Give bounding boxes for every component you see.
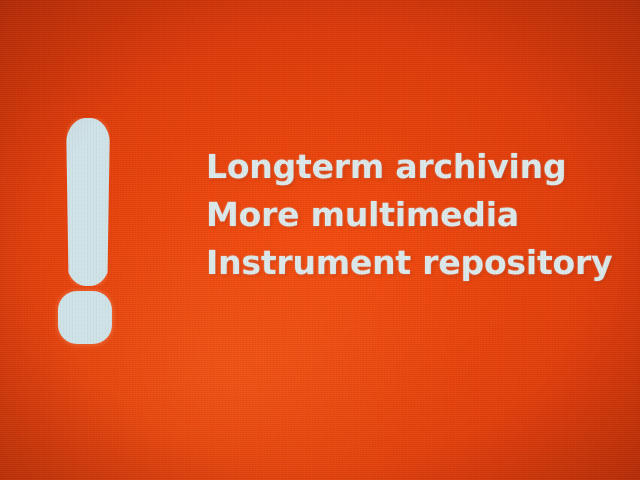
exclamation-bar-shape (66, 118, 110, 286)
exclamation-dot-shape (58, 291, 112, 344)
presentation-slide: Longterm archiving More multimedia Instr… (0, 0, 640, 480)
bullet-line-2: More multimedia (206, 191, 626, 239)
bullet-text-block: Longterm archiving More multimedia Instr… (206, 143, 626, 287)
bullet-line-3: Instrument repository (206, 239, 626, 287)
exclamation-mark-icon (52, 110, 124, 355)
bullet-line-1: Longterm archiving (206, 143, 626, 191)
